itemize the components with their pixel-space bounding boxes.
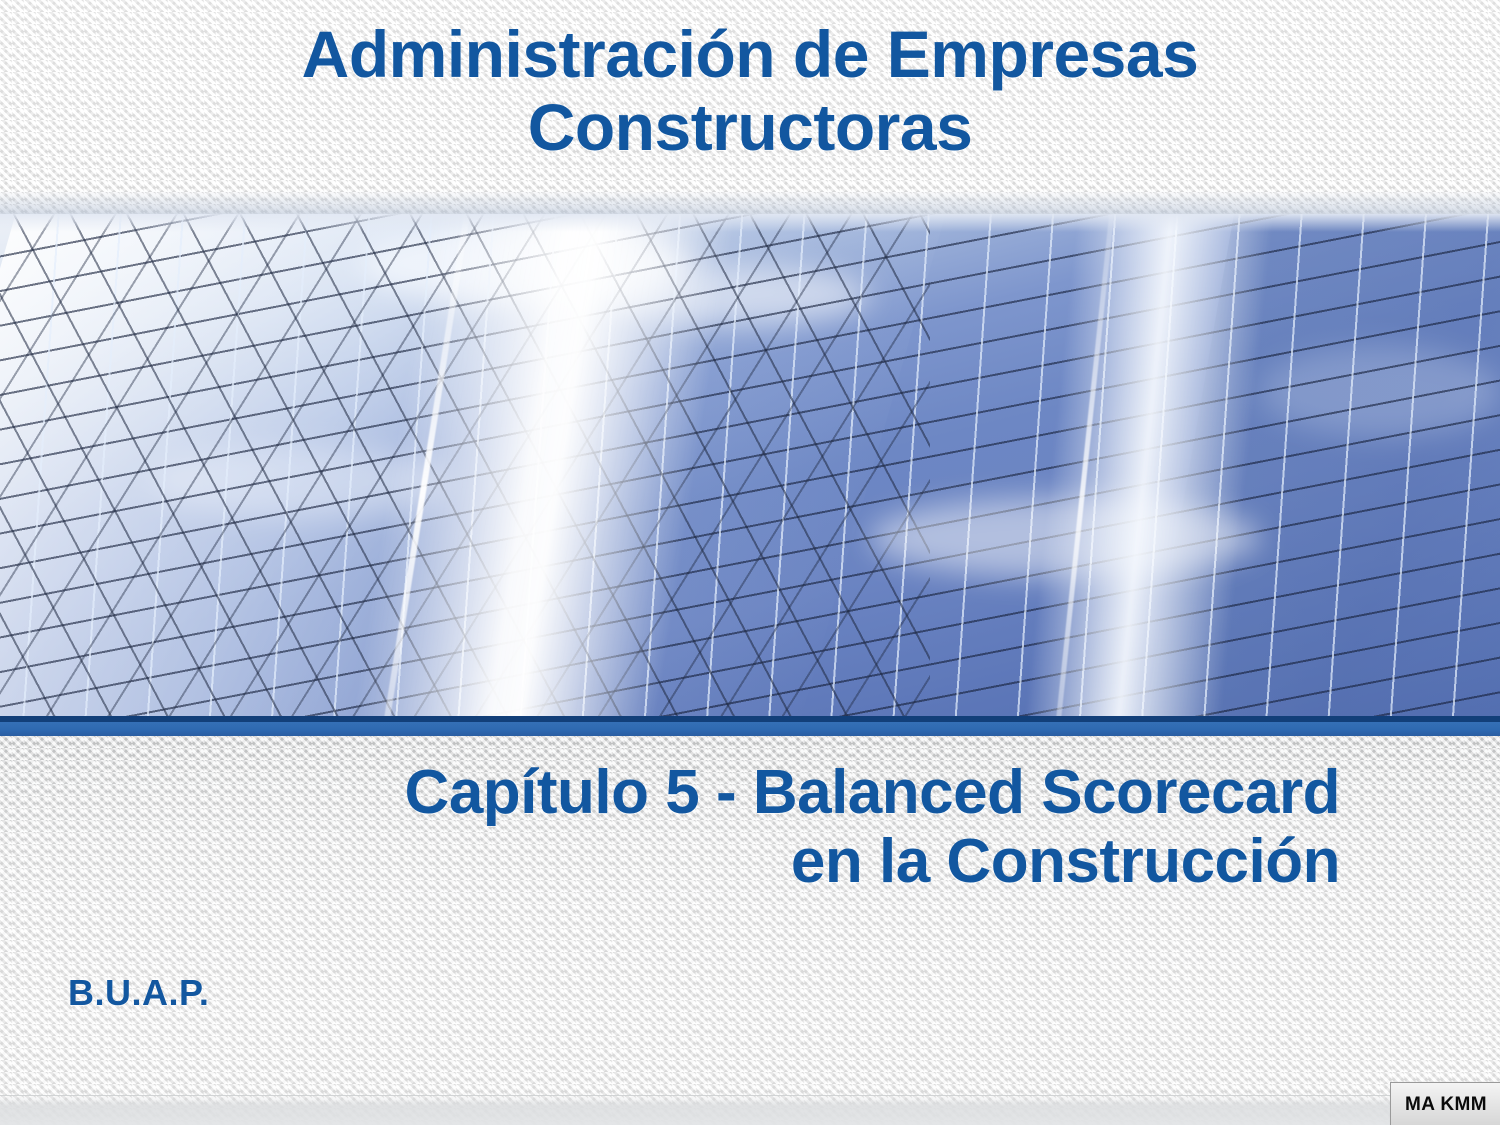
title-band-sheen (0, 190, 1500, 216)
slide-subtitle: Capítulo 5 - Balanced Scorecard en la Co… (40, 758, 1340, 897)
hero-image (0, 214, 1500, 720)
lattice-diagonal-b (0, 214, 930, 720)
section-divider (0, 716, 1500, 736)
organization-label: B.U.A.P. (68, 972, 209, 1014)
hero-image-top-fade (0, 214, 1500, 232)
author-tag: MA KMM (1390, 1082, 1500, 1125)
subtitle-band: Capítulo 5 - Balanced Scorecard en la Co… (0, 736, 1500, 1125)
footer-strip (0, 1095, 1500, 1125)
presentation-slide: Administración de Empresas Constructoras… (0, 0, 1500, 1125)
page-title: Administración de Empresas Constructoras (0, 18, 1500, 163)
divider-blue-stripe (0, 722, 1500, 736)
